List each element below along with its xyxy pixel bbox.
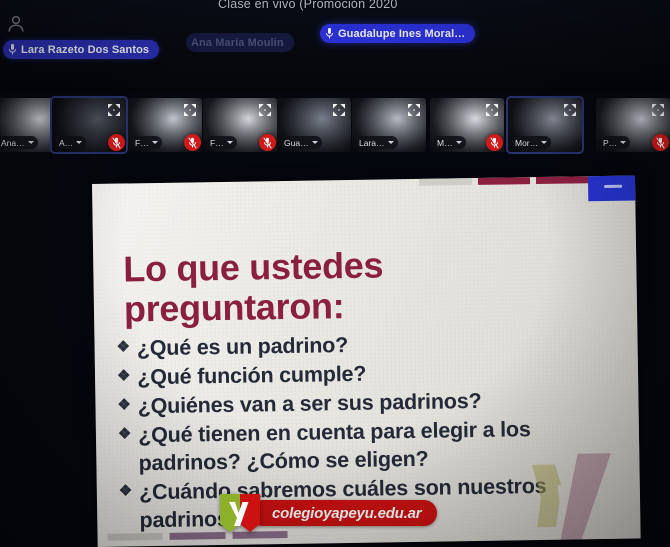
screen-capture: Clase en vivo (Promoción 2020 Lara Razet… bbox=[0, 0, 670, 547]
participant-thumbnail[interactable]: A… bbox=[52, 98, 126, 152]
thumbnail-name-chip: Mor… bbox=[511, 136, 551, 149]
expand-arrows-icon[interactable] bbox=[650, 102, 666, 118]
bullet-diamond-icon: ❖ bbox=[118, 422, 132, 445]
minimize-button[interactable] bbox=[588, 175, 638, 201]
participant-thumbnail[interactable]: P… bbox=[596, 98, 670, 152]
yapeyu-shield-logo bbox=[218, 493, 262, 533]
microphone-icon bbox=[8, 43, 17, 56]
microphone-muted-icon bbox=[490, 137, 499, 149]
chevron-down-icon[interactable] bbox=[620, 141, 626, 144]
chevron-down-icon[interactable] bbox=[388, 141, 394, 144]
expand-arrows-icon[interactable] bbox=[106, 102, 122, 118]
thumbnail-name-label: M… bbox=[437, 138, 453, 148]
meeting-title: Clase en vivo (Promoción 2020 bbox=[218, 0, 518, 15]
chevron-down-icon[interactable] bbox=[541, 141, 547, 144]
muted-microphone-badge bbox=[184, 134, 201, 151]
participant-thumbnail[interactable]: F… bbox=[128, 98, 202, 152]
expand-arrows-icon[interactable] bbox=[331, 102, 347, 118]
speaker-pill-label: Ana María Moulin bbox=[191, 37, 284, 49]
chevron-down-icon[interactable] bbox=[152, 141, 158, 144]
thumbnail-name-label: Ana… bbox=[1, 138, 25, 148]
thumbnail-name-label: Gua… bbox=[284, 138, 309, 148]
thumbnail-name-chip: F… bbox=[206, 136, 237, 149]
expand-arrows-icon[interactable] bbox=[257, 102, 273, 118]
thumbnail-name-chip: A… bbox=[55, 136, 86, 149]
participant-thumbnail-strip[interactable]: Ana…A…F…F…Gua…Lara…M…Mor…P… bbox=[0, 96, 670, 160]
chevron-down-icon[interactable] bbox=[312, 141, 318, 144]
watermark-url: colegioyapeyu.edu.ar bbox=[250, 500, 437, 526]
speaker-pill-ana[interactable]: Ana María Moulin bbox=[186, 33, 294, 52]
thumbnail-name-label: F… bbox=[135, 138, 149, 148]
chevron-down-icon[interactable] bbox=[28, 141, 34, 144]
thumbnail-name-label: P… bbox=[603, 138, 617, 148]
thumbnail-name-chip: M… bbox=[433, 136, 466, 149]
speaker-pill-label: Lara Razeto Dos Santos bbox=[21, 44, 149, 56]
thumbnail-name-label: A… bbox=[59, 138, 73, 148]
thumbnail-name-chip: P… bbox=[599, 136, 630, 149]
chevron-down-icon[interactable] bbox=[227, 141, 233, 144]
speaker-pill-guadalupe[interactable]: Guadalupe Ines Moral… bbox=[320, 24, 475, 43]
thumbnail-name-label: Lara… bbox=[359, 138, 385, 148]
expand-arrows-icon[interactable] bbox=[562, 102, 578, 118]
expand-arrows-icon[interactable] bbox=[182, 102, 198, 118]
thumbnail-name-chip: Ana… bbox=[0, 136, 38, 149]
microphone-icon bbox=[325, 27, 334, 40]
microphone-muted-icon bbox=[112, 137, 121, 149]
microphone-muted-icon bbox=[263, 137, 272, 149]
yapeyu-logo-watermark bbox=[517, 449, 622, 547]
muted-microphone-badge bbox=[259, 134, 276, 151]
muted-microphone-badge bbox=[486, 134, 503, 151]
chevron-down-icon[interactable] bbox=[76, 141, 82, 144]
participant-thumbnail[interactable]: Gua… bbox=[277, 98, 351, 152]
muted-microphone-badge bbox=[652, 134, 669, 151]
bullet-diamond-icon: ❖ bbox=[119, 479, 133, 502]
bullet-diamond-icon: ❖ bbox=[117, 364, 131, 387]
participant-thumbnail[interactable]: Lara… bbox=[352, 98, 426, 152]
participant-thumbnail[interactable]: M… bbox=[430, 98, 504, 152]
thumbnail-name-chip: F… bbox=[131, 136, 162, 149]
speaker-pill-label: Guadalupe Ines Moral… bbox=[338, 28, 465, 40]
thumbnail-name-chip: Gua… bbox=[280, 136, 322, 149]
microphone-muted-icon bbox=[656, 137, 665, 149]
shared-slide-region: Lo que ustedes preguntaron: ❖¿Qué es un … bbox=[92, 175, 641, 546]
expand-arrows-icon[interactable] bbox=[484, 102, 500, 118]
presentation-slide: Lo que ustedes preguntaron: ❖¿Qué es un … bbox=[92, 175, 641, 546]
slide-heading: Lo que ustedes preguntaron: bbox=[123, 243, 544, 330]
speaker-pill-lara[interactable]: Lara Razeto Dos Santos bbox=[3, 40, 159, 59]
participant-thumbnail[interactable]: Mor… bbox=[508, 98, 582, 152]
participant-thumbnail[interactable]: F… bbox=[203, 98, 277, 152]
thumbnail-name-label: Mor… bbox=[515, 138, 538, 148]
site-watermark: colegioyapeyu.edu.ar bbox=[218, 496, 437, 530]
muted-microphone-badge bbox=[108, 134, 125, 151]
meeting-top-bar: Clase en vivo (Promoción 2020 Lara Razet… bbox=[0, 0, 670, 92]
minimize-icon bbox=[604, 184, 622, 187]
thumbnail-name-label: F… bbox=[210, 138, 224, 148]
bullet-diamond-icon: ❖ bbox=[116, 335, 130, 358]
microphone-muted-icon bbox=[188, 137, 197, 149]
expand-arrows-icon[interactable] bbox=[406, 102, 422, 118]
person-icon bbox=[6, 14, 26, 34]
bullet-diamond-icon: ❖ bbox=[117, 393, 131, 416]
thumbnail-name-chip: Lara… bbox=[355, 136, 398, 149]
chevron-down-icon[interactable] bbox=[456, 141, 462, 144]
